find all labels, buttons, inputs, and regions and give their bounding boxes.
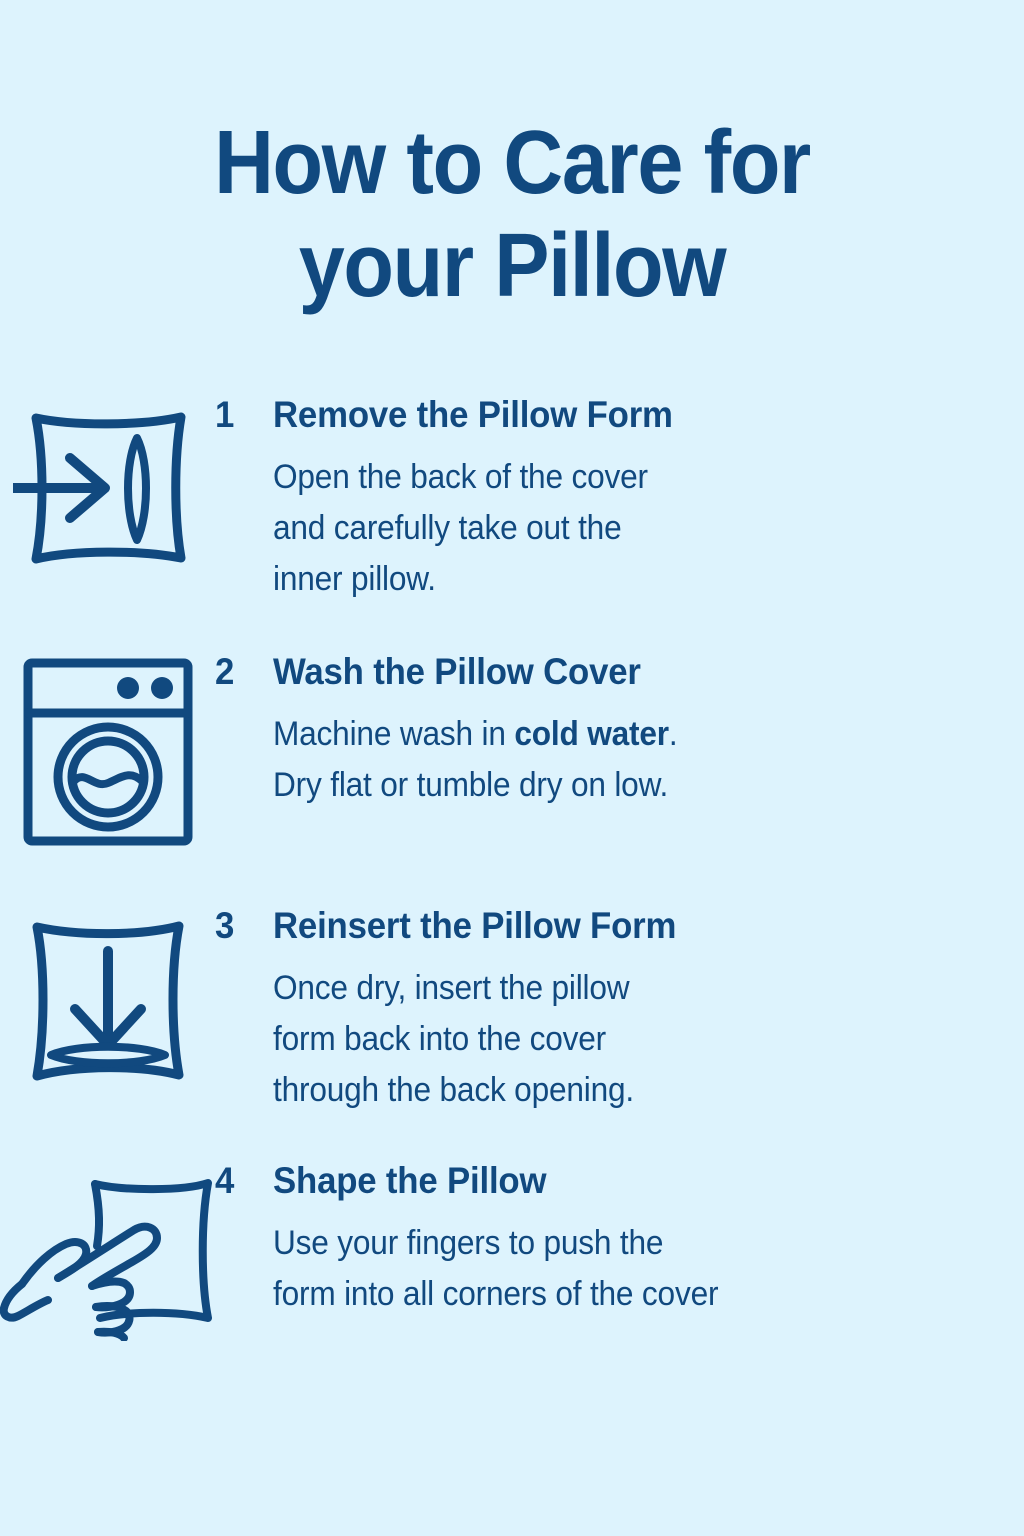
step-1-description: Open the back of the cover and carefully… bbox=[273, 452, 868, 605]
step-3-description: Once dry, insert the pillow form back in… bbox=[273, 963, 868, 1116]
step-1-body: 1 Remove the Pillow Form Open the back o… bbox=[215, 392, 1024, 605]
step-3-icon-wrap bbox=[0, 903, 215, 1091]
hand-pointing-at-pillow-icon bbox=[0, 1166, 215, 1341]
step-2-body: 2 Wash the Pillow Cover Machine wash in … bbox=[215, 649, 1024, 811]
step-2-desc-suffix: . bbox=[669, 715, 678, 753]
step-4-desc-line-2: form into all corners of the cover bbox=[273, 1275, 718, 1313]
step-1-desc-line-2: and carefully take out the bbox=[273, 509, 621, 547]
step-item-4: 4 Shape the Pillow Use your fingers to p… bbox=[0, 1158, 1024, 1341]
step-4-number: 4 bbox=[215, 1158, 270, 1204]
step-3-text: Reinsert the Pillow Form Once dry, inser… bbox=[273, 903, 984, 1116]
step-item-2: 2 Wash the Pillow Cover Machine wash in … bbox=[0, 649, 1024, 847]
step-2-desc-emphasis: cold water bbox=[514, 715, 669, 753]
step-3-number: 3 bbox=[215, 903, 270, 949]
washing-machine-icon bbox=[22, 657, 194, 847]
pillow-with-down-arrow-icon bbox=[15, 911, 201, 1091]
step-item-3: 3 Reinsert the Pillow Form Once dry, ins… bbox=[0, 903, 1024, 1116]
step-2-description: Machine wash in cold water. Dry flat or … bbox=[273, 709, 868, 811]
step-1-text: Remove the Pillow Form Open the back of … bbox=[273, 392, 984, 605]
step-2-heading: Wash the Pillow Cover bbox=[273, 649, 941, 695]
page-title: How to Care for your Pillow bbox=[0, 112, 1024, 317]
step-3-desc-line-2: form back into the cover bbox=[273, 1020, 606, 1058]
step-4-description: Use your fingers to push the form into a… bbox=[273, 1218, 868, 1320]
step-4-heading: Shape the Pillow bbox=[273, 1158, 941, 1204]
step-2-icon-wrap bbox=[0, 649, 215, 847]
infographic-page: How to Care for your Pillow 1 Remov bbox=[0, 0, 1024, 1536]
step-3-heading: Reinsert the Pillow Form bbox=[273, 903, 941, 949]
step-4-desc-line-1: Use your fingers to push the bbox=[273, 1224, 663, 1262]
step-3-body: 3 Reinsert the Pillow Form Once dry, ins… bbox=[215, 903, 1024, 1116]
step-1-desc-line-1: Open the back of the cover bbox=[273, 458, 648, 496]
title-line-2: your Pillow bbox=[41, 215, 983, 318]
step-4-text: Shape the Pillow Use your fingers to pus… bbox=[273, 1158, 984, 1320]
step-4-body: 4 Shape the Pillow Use your fingers to p… bbox=[215, 1158, 1024, 1320]
step-2-desc-line-2: Dry flat or tumble dry on low. bbox=[273, 766, 668, 804]
step-3-desc-line-3: through the back opening. bbox=[273, 1071, 634, 1109]
step-1-number: 1 bbox=[215, 392, 270, 438]
step-2-text: Wash the Pillow Cover Machine wash in co… bbox=[273, 649, 984, 811]
step-3-desc-line-1: Once dry, insert the pillow bbox=[273, 969, 629, 1007]
title-line-1: How to Care for bbox=[41, 112, 983, 215]
step-2-number: 2 bbox=[215, 649, 270, 695]
step-item-1: 1 Remove the Pillow Form Open the back o… bbox=[0, 392, 1024, 605]
pillow-with-right-arrow-icon bbox=[13, 400, 203, 575]
step-1-icon-wrap bbox=[0, 392, 215, 575]
steps-list: 1 Remove the Pillow Form Open the back o… bbox=[0, 392, 1024, 1341]
step-1-heading: Remove the Pillow Form bbox=[273, 392, 941, 438]
step-2-desc-prefix: Machine wash in bbox=[273, 715, 514, 753]
step-4-icon-wrap bbox=[0, 1158, 215, 1341]
step-1-desc-line-3: inner pillow. bbox=[273, 560, 436, 598]
